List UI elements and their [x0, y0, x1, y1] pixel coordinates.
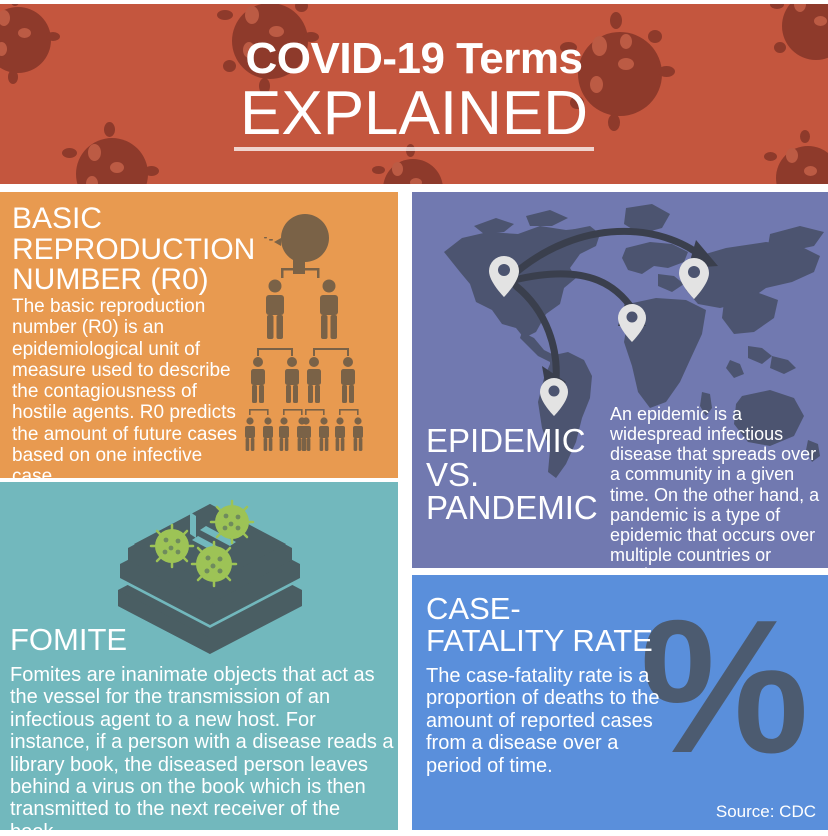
panel-epidemic-vs-pandemic: EPIDEMIC VS. PANDEMIC An epidemic is a w…: [412, 192, 828, 568]
fomite-heading: FOMITE: [10, 624, 127, 656]
header-banner: COVID-19 Terms EXPLAINED: [0, 4, 828, 184]
reproduction-number-body: The basic reproduction number (R0) is an…: [12, 296, 240, 478]
header-title-group: COVID-19 Terms EXPLAINED: [0, 4, 828, 184]
panel-case-fatality-rate: % CASE- FATALITY RATE The case-fatality …: [412, 575, 828, 830]
transmission-tree-icon: [243, 210, 393, 460]
page-title: COVID-19 Terms: [246, 37, 583, 81]
page-subtitle: EXPLAINED: [234, 83, 594, 151]
epidemic-vs-pandemic-body: An epidemic is a widespread infectious d…: [610, 404, 822, 568]
panel-fomite: FOMITE Fomites are inanimate objects tha…: [0, 482, 398, 830]
stacked-books-icon: [110, 486, 310, 656]
panel-basic-reproduction-number: BASIC REPRODUCTION NUMBER (R0) The basic…: [0, 192, 398, 478]
source-attribution: Source: CDC: [716, 802, 816, 822]
fomite-body: Fomites are inanimate objects that act a…: [10, 664, 394, 830]
case-fatality-rate-heading: CASE- FATALITY RATE: [426, 593, 676, 656]
infographic-canvas: COVID-19 Terms EXPLAINED BASIC REPRODUCT…: [0, 0, 828, 836]
case-fatality-rate-body: The case-fatality rate is a proportion o…: [426, 665, 666, 777]
reproduction-number-heading: BASIC REPRODUCTION NUMBER (R0): [12, 204, 262, 296]
epidemic-vs-pandemic-heading: EPIDEMIC VS. PANDEMIC: [426, 424, 611, 525]
